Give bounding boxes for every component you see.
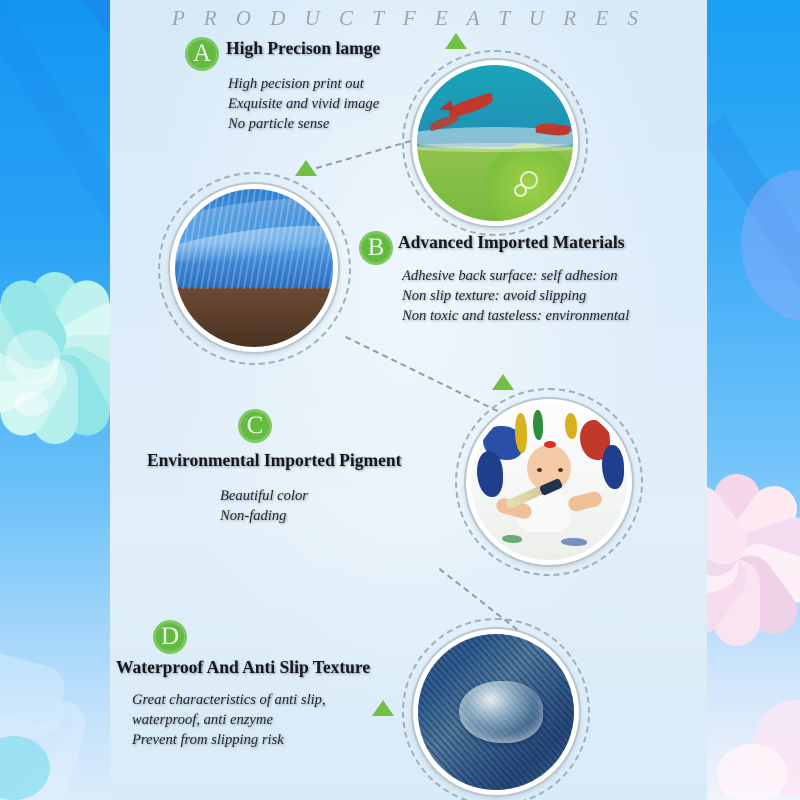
arrow-marker-d: [372, 700, 394, 716]
right-decorative-border: [707, 0, 800, 800]
decor-band: [778, 0, 800, 99]
photo-baby-painting: [471, 404, 627, 560]
feature-lines-c-1: Beautiful color: [220, 486, 308, 506]
feature-heading-b: Advanced Imported Materials: [398, 232, 625, 253]
arrow-marker-a: [445, 33, 467, 49]
feature-image-a: [400, 48, 590, 238]
feature-image-b: [158, 172, 353, 367]
photo-blue-fabric: [175, 189, 333, 347]
feature-badge-b: B: [359, 231, 393, 265]
decor-swirl: [14, 392, 48, 416]
feature-badge-d: D: [153, 620, 187, 654]
photo-waterproof-texture: [418, 634, 574, 790]
left-decorative-border: [0, 0, 110, 800]
feature-lines-a-1: High pecision print out: [228, 74, 364, 94]
feature-image-d: [402, 618, 592, 800]
decor-swirl: [6, 330, 60, 384]
feature-lines-d-2: waterproof, anti enzyme: [132, 710, 273, 730]
feature-lines-b-2: Non slip texture: avoid slipping: [402, 286, 586, 306]
feature-heading-c: Environmental Imported Pigment: [147, 450, 401, 471]
page-title: P R O D U C T F E A T U R E S: [110, 6, 707, 31]
feature-image-c: [455, 388, 645, 578]
arrow-marker-b: [295, 160, 317, 176]
feature-lines-a-2: Exquisite and vivid image: [228, 94, 379, 114]
feature-lines-b-1: Adhesive back surface: self adhesion: [402, 266, 618, 286]
decor-band: [0, 0, 110, 270]
feature-badge-c: C: [238, 409, 272, 443]
feature-heading-a: High Precison lamge: [226, 38, 380, 59]
arrow-marker-c: [492, 374, 514, 390]
feature-lines-c-2: Non-fading: [220, 506, 286, 526]
content-panel: P R O D U C T F E A T U R E S A High Pre…: [110, 0, 707, 800]
feature-lines-d-1: Great characteristics of anti slip,: [132, 690, 326, 710]
feature-lines-d-3: Prevent from slipping risk: [132, 730, 284, 750]
feature-heading-d: Waterproof And Anti Slip Texture: [116, 657, 370, 678]
photo-fish-water: [417, 65, 573, 221]
feature-badge-a: A: [185, 37, 219, 71]
feature-lines-a-3: No particle sense: [228, 114, 329, 134]
feature-lines-b-3: Non toxic and tasteless: environmental: [402, 306, 629, 326]
decor-blob: [717, 744, 787, 800]
product-features-poster: P R O D U C T F E A T U R E S A High Pre…: [0, 0, 800, 800]
